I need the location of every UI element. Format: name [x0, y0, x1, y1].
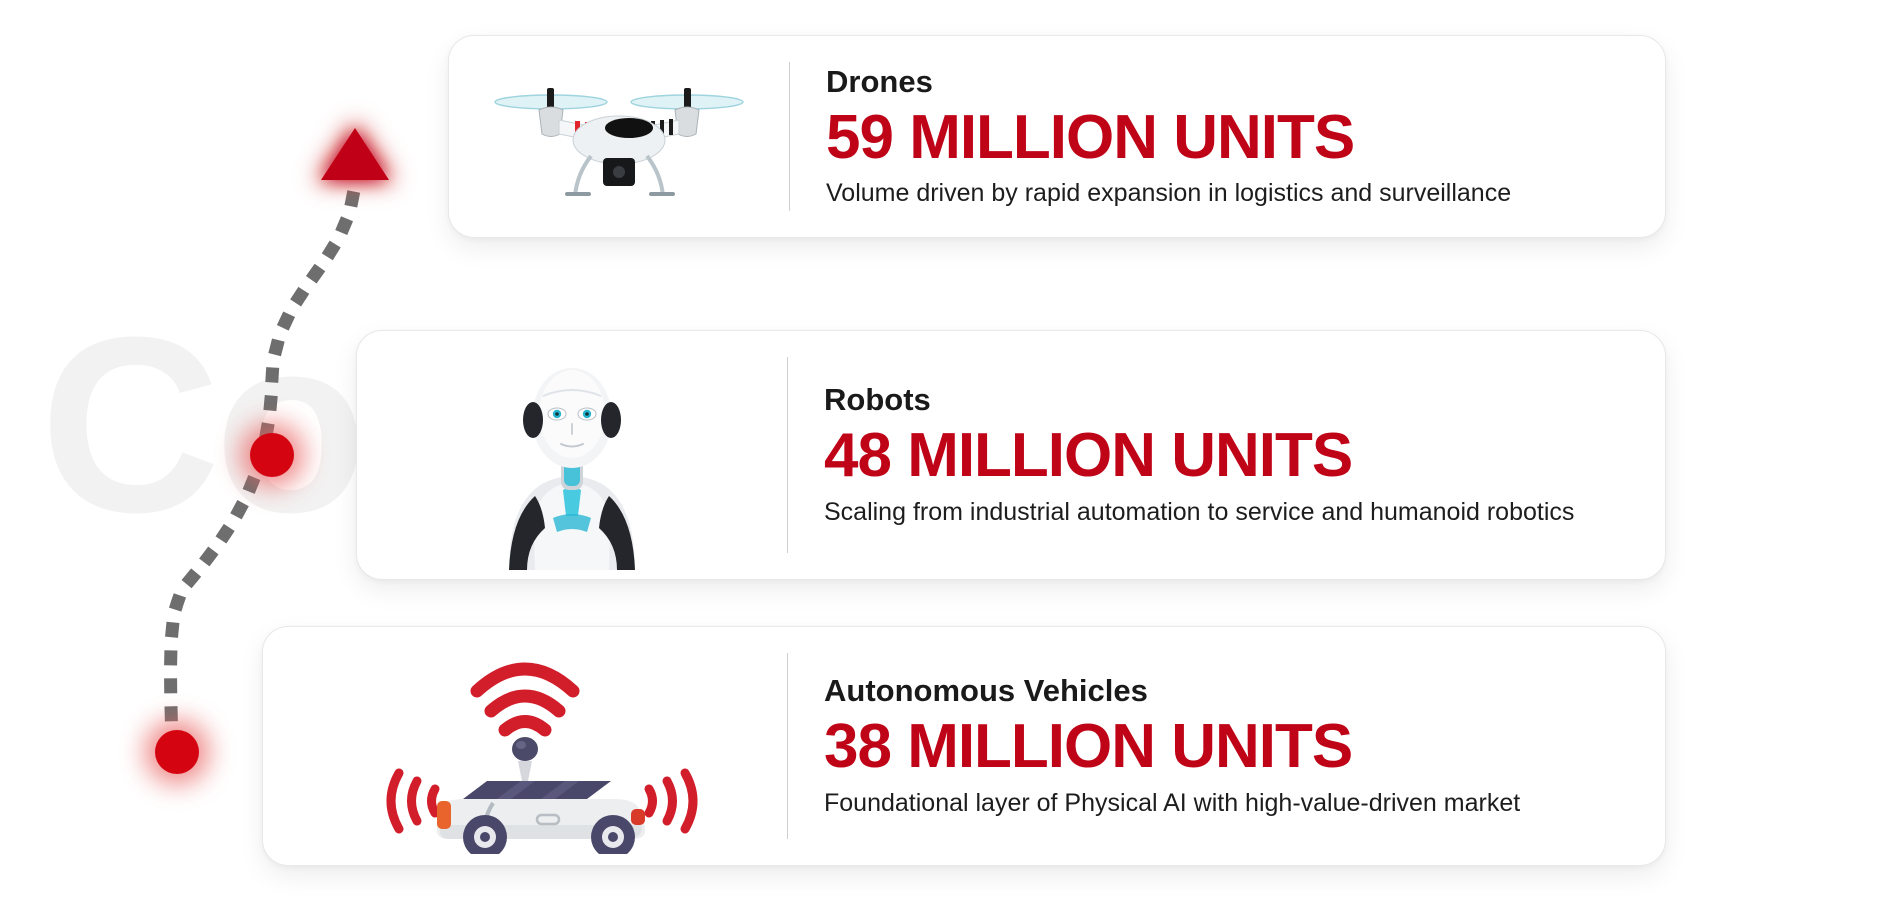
wifi-icon: [477, 669, 573, 730]
card-category: Drones: [826, 65, 1641, 99]
humanoid-robot-illustration: [357, 331, 787, 579]
stat-card-drones[interactable]: Drones 59 MILLION UNITS Volume driven by…: [448, 35, 1666, 238]
card-stat: 48 MILLION UNITS: [824, 421, 1641, 490]
card-category: Autonomous Vehicles: [824, 674, 1641, 708]
card-stat: 38 MILLION UNITS: [824, 712, 1641, 781]
autonomous-car-illustration: [263, 627, 787, 865]
stat-card-robots[interactable]: Robots 48 MILLION UNITS Scaling from ind…: [356, 330, 1666, 580]
card-body: Robots 48 MILLION UNITS Scaling from ind…: [788, 383, 1665, 527]
card-category: Robots: [824, 383, 1641, 417]
card-description: Foundational layer of Physical AI with h…: [824, 788, 1641, 818]
card-body: Autonomous Vehicles 38 MILLION UNITS Fou…: [788, 674, 1665, 818]
stat-card-autonomous-vehicles[interactable]: Autonomous Vehicles 38 MILLION UNITS Fou…: [262, 626, 1666, 866]
card-stat: 59 MILLION UNITS: [826, 103, 1641, 172]
start-triangle-marker: [314, 120, 396, 182]
card-body: Drones 59 MILLION UNITS Volume driven by…: [790, 65, 1665, 209]
drone-illustration: [449, 36, 789, 237]
card-description: Volume driven by rapid expansion in logi…: [826, 178, 1641, 208]
infographic-stage: Counterpoint: [0, 0, 1892, 922]
card-description: Scaling from industrial automation to se…: [824, 497, 1641, 527]
endpoint-circle-marker-2: [145, 720, 209, 784]
waypoint-circle-marker-1: [240, 423, 304, 487]
